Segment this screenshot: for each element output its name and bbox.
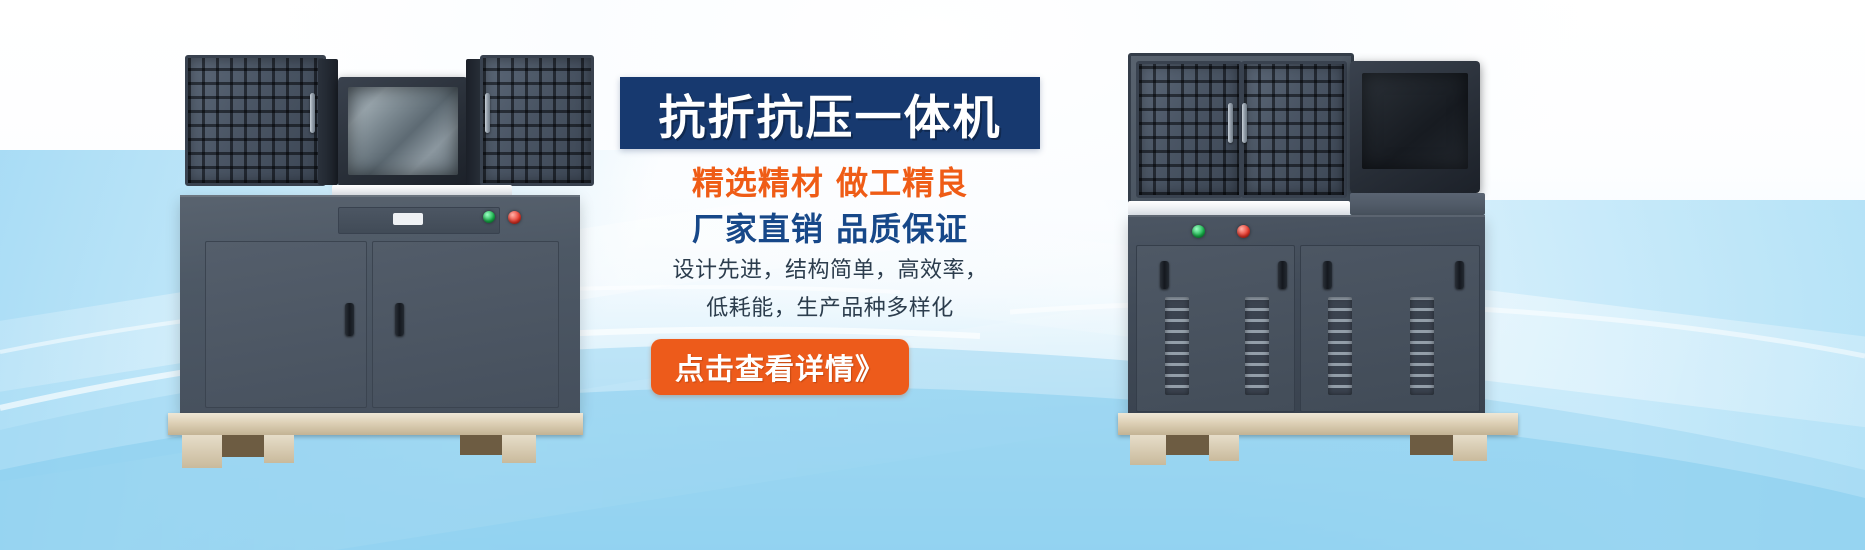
drawer-label (393, 213, 423, 225)
pallet-gap-right-2 (1410, 435, 1455, 455)
monitor-base-right (1350, 193, 1485, 215)
lower-door-handle-left (345, 303, 354, 336)
vent-grille-4 (1410, 297, 1434, 395)
promo-banner: 抗折抗压一体机 精选精材 做工精良 厂家直销 品质保证 设计先进，结构简单，高效… (0, 0, 1865, 550)
louvered-handle-3 (1323, 261, 1332, 289)
louvered-handle-2 (1278, 261, 1287, 289)
description-line-1: 设计先进，结构简单，高效率， (620, 252, 1040, 284)
pallet-leg-3 (502, 435, 536, 463)
pallet-leg-2 (264, 435, 294, 463)
marketing-copy-block: 抗折抗压一体机 精选精材 做工精良 厂家直销 品质保证 设计先进，结构简单，高效… (620, 0, 1080, 550)
pallet-leg-1 (182, 435, 222, 468)
pallet-leg-right-1 (1130, 435, 1166, 465)
indicator-lamp-green (483, 211, 495, 223)
cabinet-handle-left (310, 93, 315, 133)
cabinet-handle-right (485, 93, 490, 133)
subtitle-blue: 厂家直销 品质保证 (620, 204, 1040, 250)
indicator-lamp-green-right (1192, 225, 1205, 238)
pallet-gap-1 (220, 435, 265, 457)
monitor-screen-right (1362, 73, 1468, 169)
pallet-gap-2 (460, 435, 505, 455)
description-line-2: 低耗能，生产品种多样化 (620, 290, 1040, 322)
shelf-strip-right (1128, 201, 1350, 215)
pallet-gap-right-1 (1165, 435, 1210, 455)
vent-grille-3 (1328, 297, 1352, 395)
top-cabinet-handle-left (1228, 103, 1233, 143)
lower-door-handle-right (395, 303, 404, 336)
page-title: 抗折抗压一体机 (620, 77, 1040, 149)
indicator-lamp-red-right (1237, 225, 1250, 238)
perforated-door-right (480, 55, 594, 186)
wooden-pallet-left (168, 413, 583, 435)
wooden-pallet-right (1118, 413, 1518, 435)
vent-grille-1 (1165, 297, 1189, 395)
perforated-door-left (185, 55, 326, 186)
cabinet-side-left (318, 59, 338, 185)
pallet-leg-right-2 (1209, 435, 1239, 461)
louvered-handle-4 (1455, 261, 1464, 289)
monitor-screen-left (348, 87, 458, 175)
vent-grille-2 (1245, 297, 1269, 395)
subtitle-orange: 精选精材 做工精良 (620, 158, 1040, 204)
view-details-button[interactable]: 点击查看详情》 (651, 339, 909, 395)
perforated-door-upper-left (1136, 61, 1242, 198)
pallet-leg-right-3 (1453, 435, 1487, 461)
product-image-left (160, 45, 580, 440)
indicator-lamp-red (508, 211, 521, 224)
top-cabinet-handle-right (1242, 103, 1247, 143)
product-image-right (1110, 45, 1540, 440)
louvered-handle-1 (1160, 261, 1169, 289)
perforated-door-upper-right (1241, 61, 1347, 198)
lower-door-left (205, 241, 367, 408)
